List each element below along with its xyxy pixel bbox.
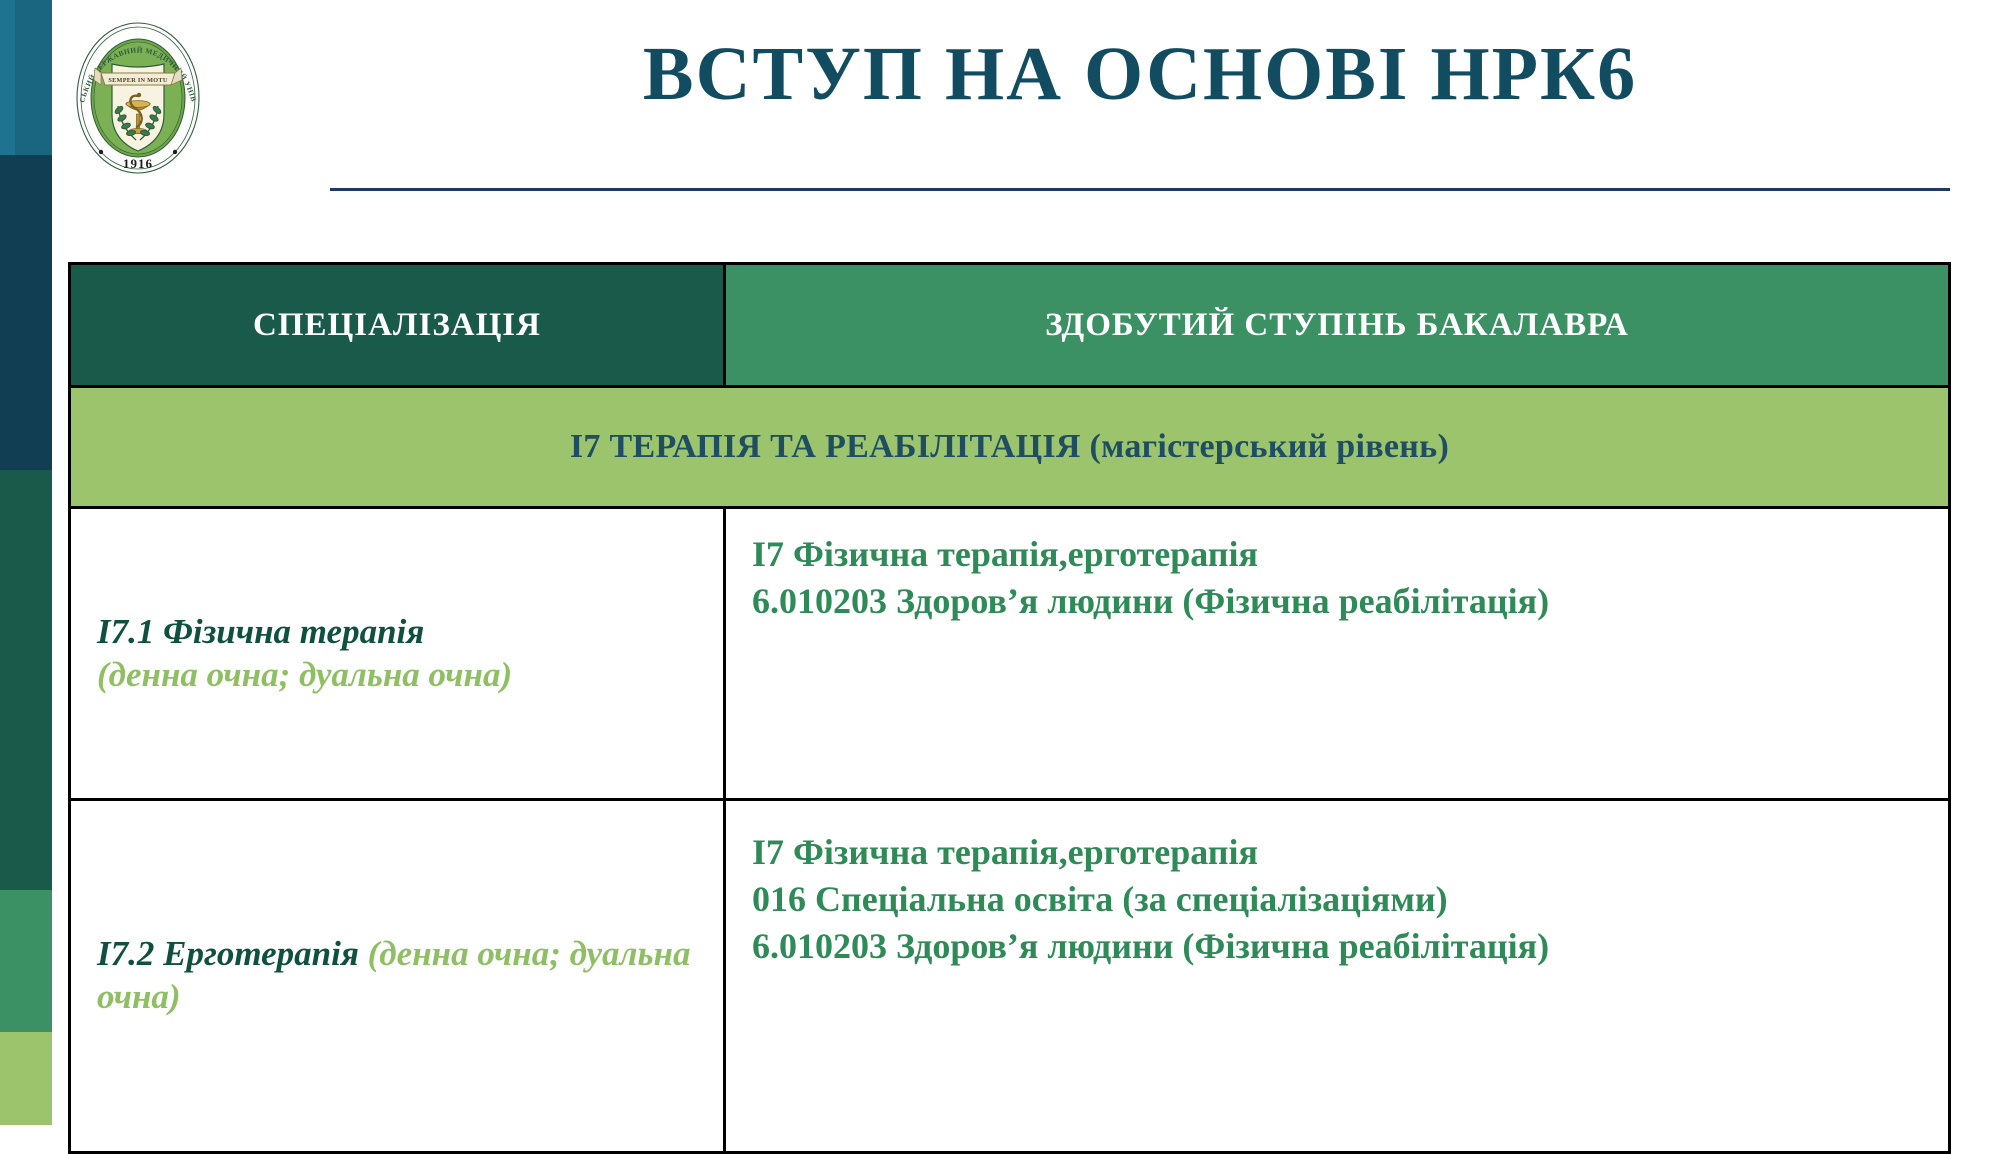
rail-band-light-green	[0, 1032, 52, 1125]
cell-degree: I7 Фізична терапія,ерготерапія 6.010203 …	[725, 508, 1950, 800]
degree-line: I7 Фізична терапія,ерготерапія	[752, 829, 1928, 876]
section-banner-row: I7 ТЕРАПІЯ ТА РЕАБІЛІТАЦІЯ (магістерськи…	[70, 387, 1950, 508]
svg-text:SEMPER IN MOTU: SEMPER IN MOTU	[108, 77, 167, 84]
table-header-row: СПЕЦІАЛІЗАЦІЯ ЗДОБУТИЙ СТУПІНЬ БАКАЛАВРА	[70, 264, 1950, 387]
title-underline-rule	[330, 188, 1950, 191]
admission-table: СПЕЦІАЛІЗАЦІЯ ЗДОБУТИЙ СТУПІНЬ БАКАЛАВРА…	[68, 262, 1951, 1154]
table-row: I7.2 Ерготерапія (денна очна; дуальна оч…	[70, 800, 1950, 1153]
rail-band-dark-green	[0, 470, 52, 890]
specialization-name: I7.1 Фізична терапія	[97, 612, 424, 651]
specialization-name: I7.2 Ерготерапія	[97, 934, 359, 973]
table-row: I7.1 Фізична терапія (денна очна; дуальн…	[70, 508, 1950, 800]
degree-line: 6.010203 Здоров’я людини (Фізична реабіл…	[752, 578, 1928, 625]
rail-band-mid-green	[0, 890, 52, 1032]
degree-line: 6.010203 Здоров’я людини (Фізична реабіл…	[752, 923, 1928, 970]
university-logo: ДНІПРОВСЬКИЙ ДЕРЖАВНИЙ МЕДИЧНИЙ УНІВЕРСИ…	[68, 18, 208, 178]
section-banner-label: I7 ТЕРАПІЯ ТА РЕАБІЛІТАЦІЯ (магістерськи…	[70, 387, 1950, 508]
cell-specialization: I7.2 Ерготерапія (денна очна; дуальна оч…	[70, 800, 725, 1153]
cell-specialization: I7.1 Фізична терапія (денна очна; дуальн…	[70, 508, 725, 800]
cell-degree: I7 Фізична терапія,ерготерапія 016 Спеці…	[725, 800, 1950, 1153]
column-header-specialization: СПЕЦІАЛІЗАЦІЯ	[70, 264, 725, 387]
degree-line: 016 Спеціальна освіта (за спеціалізаціям…	[752, 876, 1928, 923]
slide-header: ДНІПРОВСЬКИЙ ДЕРЖАВНИЙ МЕДИЧНИЙ УНІВЕРСИ…	[0, 0, 2000, 205]
rail-accent-top	[0, 0, 15, 155]
column-header-degree: ЗДОБУТИЙ СТУПІНЬ БАКАЛАВРА	[725, 264, 1950, 387]
specialization-forms: (денна очна; дуальна очна)	[97, 655, 512, 694]
rail-accent-second	[0, 155, 15, 323]
svg-text:1916: 1916	[123, 156, 153, 171]
degree-line: I7 Фізична терапія,ерготерапія	[752, 531, 1928, 578]
page-title: ВСТУП НА ОСНОВІ НРК6	[330, 36, 1950, 112]
left-color-rail	[0, 0, 52, 1125]
